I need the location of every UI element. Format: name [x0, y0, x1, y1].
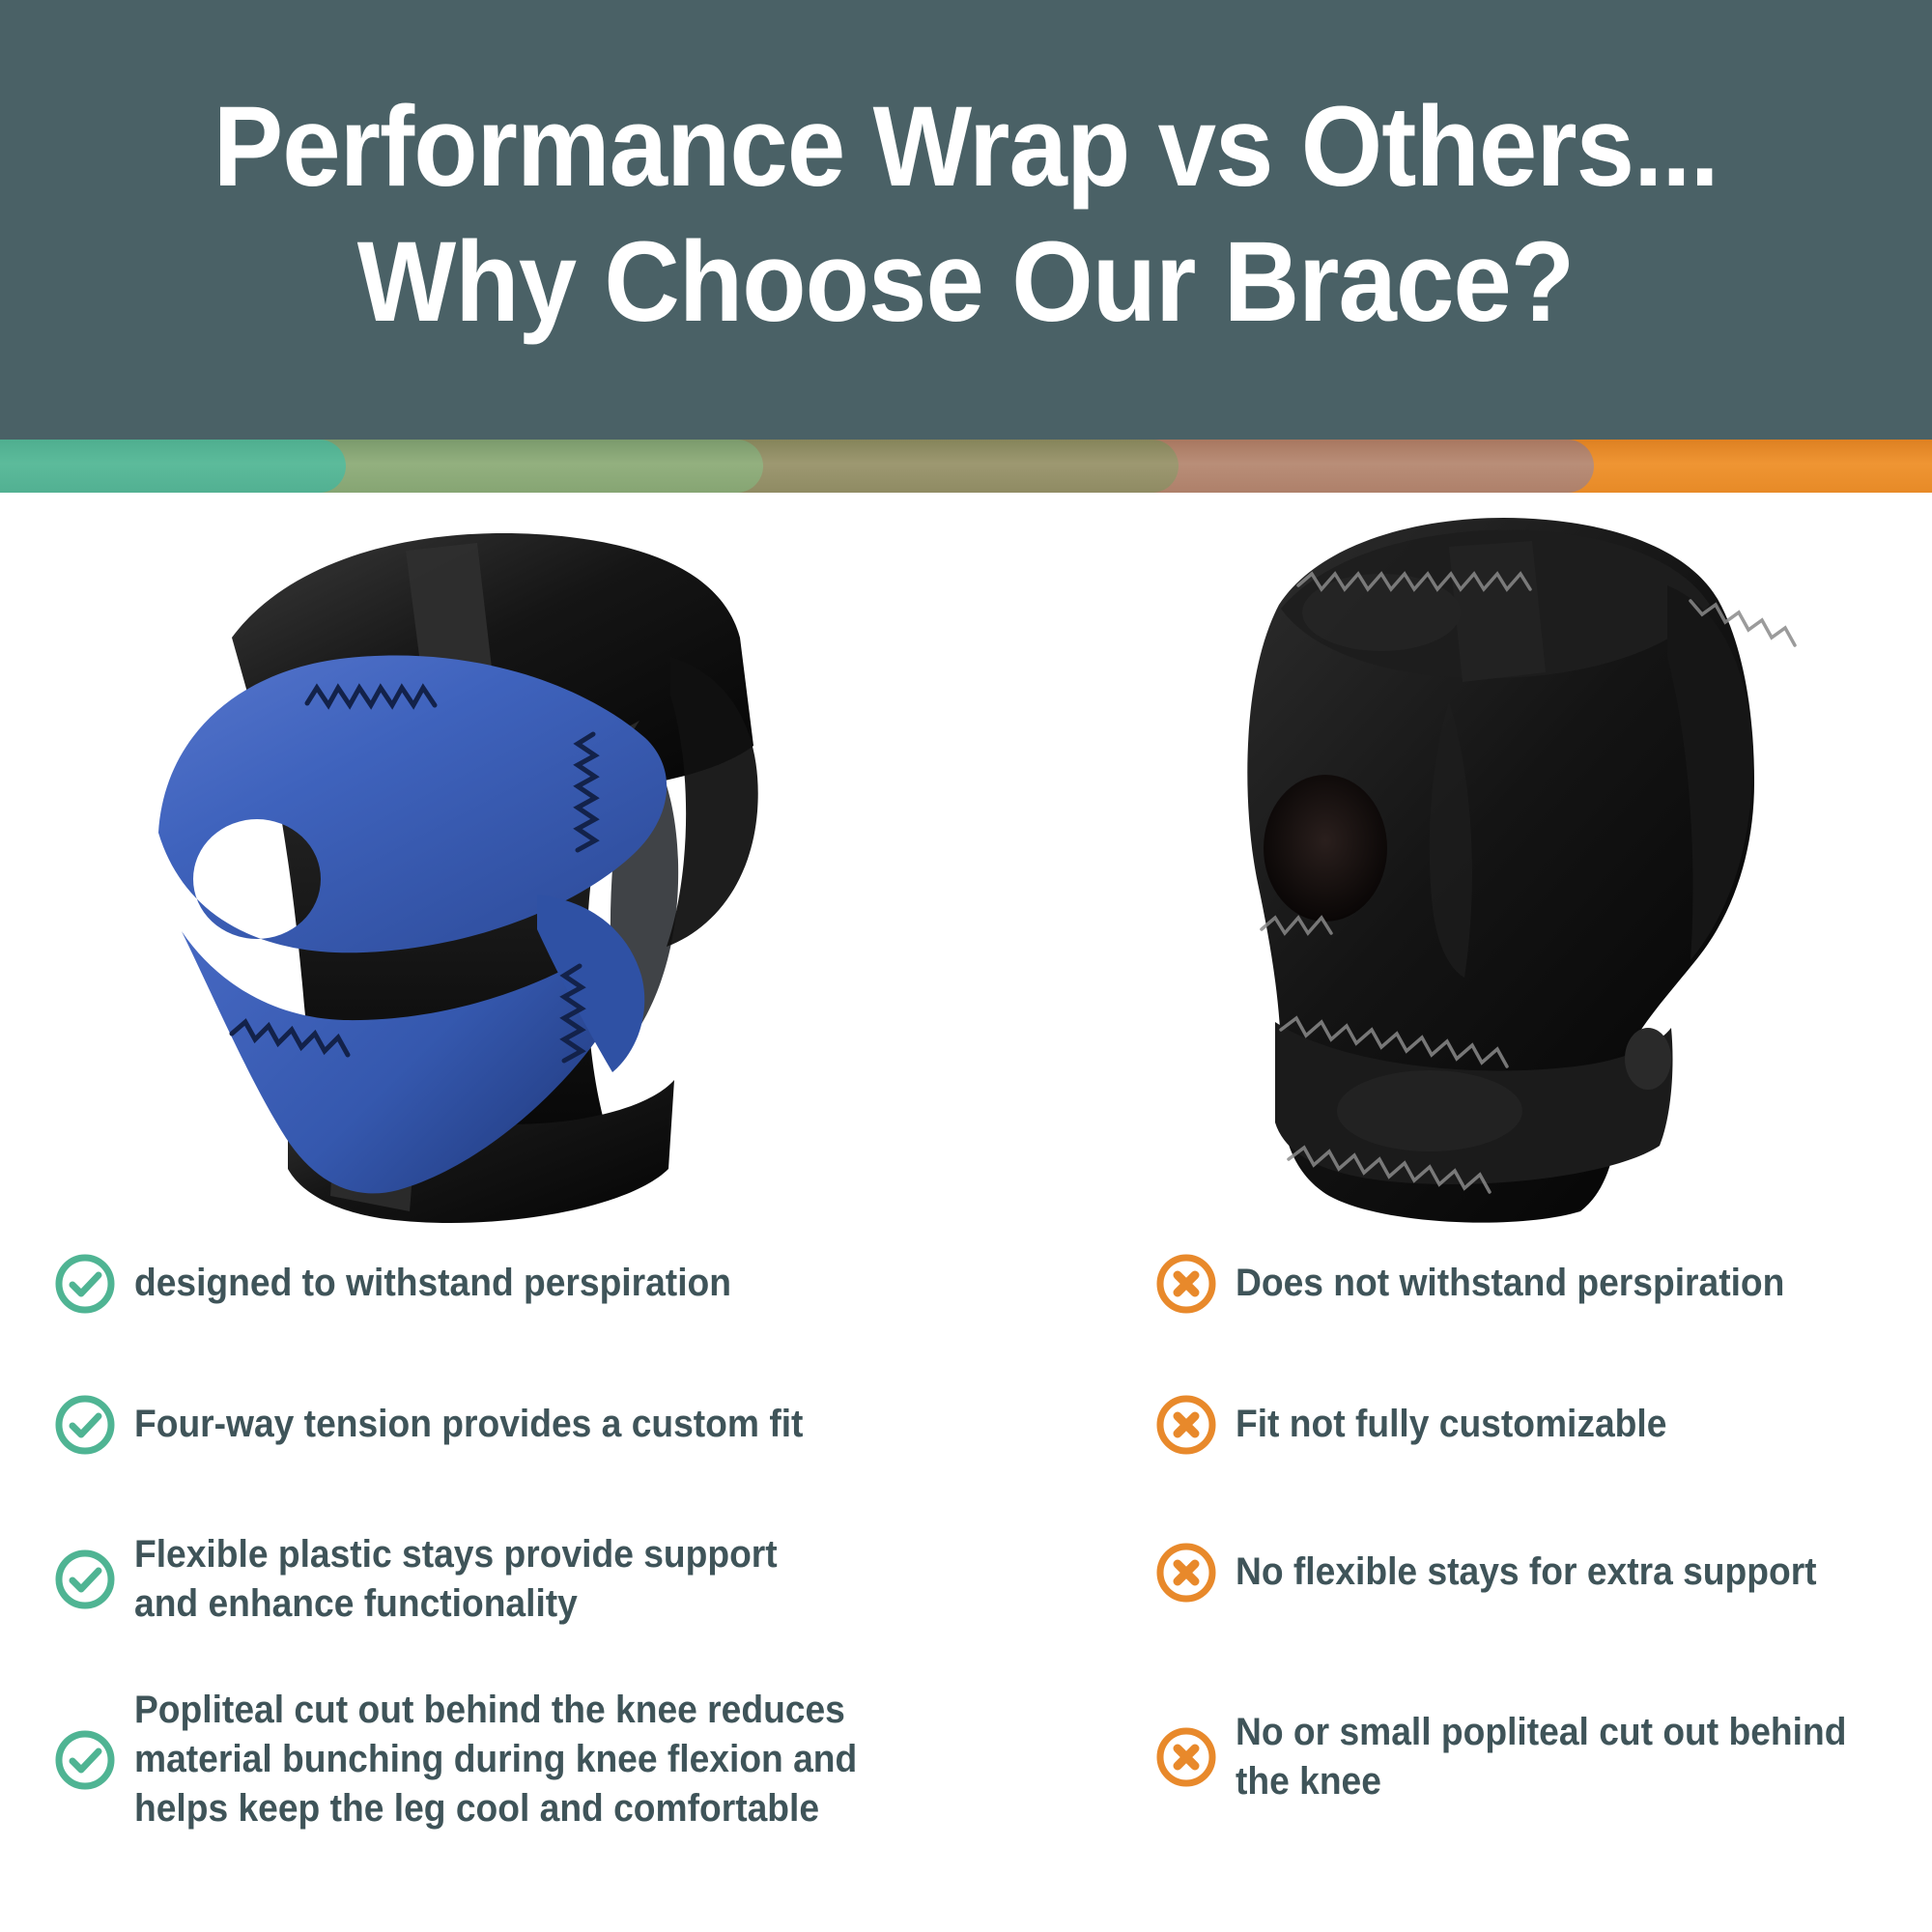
list-item-label: No flexible stays for extra support [1236, 1548, 1817, 1597]
check-circle-icon [53, 1252, 117, 1316]
list-item: Does not withstand perspiration [1154, 1252, 1826, 1316]
page-header: Performance Wrap vs Others... Why Choose… [0, 0, 1932, 440]
page-title-line-1: Performance Wrap vs Others... [213, 80, 1719, 214]
our-brace-illustration [87, 493, 860, 1236]
check-circle-icon [53, 1728, 117, 1792]
cross-circle-icon [1154, 1541, 1218, 1605]
gradient-segment-teal [0, 440, 346, 493]
gradient-divider-bar [0, 440, 1932, 493]
product-image-competitor-brace [1092, 493, 1864, 1236]
list-item: Four-way tension provides a custom fit [53, 1393, 854, 1457]
check-circle-icon [53, 1548, 117, 1611]
list-item-label: Flexible plastic stays provide support a… [134, 1530, 778, 1629]
column-our-brace: designed to withstand perspiration Four-… [0, 1246, 1043, 1932]
list-item: No or small popliteal cut out behind the… [1154, 1708, 1892, 1806]
list-item: Flexible plastic stays provide support a… [53, 1530, 826, 1629]
small-popliteal-hole [1264, 775, 1387, 922]
list-item-label: No or small popliteal cut out behind the… [1236, 1708, 1846, 1806]
lower-velcro-pad [1337, 1070, 1522, 1151]
list-item: Fit not fully customizable [1154, 1393, 1699, 1457]
list-item-label: Popliteal cut out behind the knee reduce… [134, 1686, 857, 1834]
page-title-line-2: Why Choose Our Brace? [357, 215, 1574, 350]
cross-circle-icon [1154, 1252, 1218, 1316]
list-item: Popliteal cut out behind the knee reduce… [53, 1686, 912, 1834]
cross-circle-icon [1154, 1393, 1218, 1457]
list-item-label: Does not withstand perspiration [1236, 1259, 1784, 1308]
product-image-our-brace [87, 493, 860, 1236]
list-item-label: Fit not fully customizable [1236, 1400, 1666, 1449]
cross-circle-icon [1154, 1725, 1218, 1789]
upper-center-tab [1449, 541, 1546, 682]
column-competitor-brace: Does not withstand perspiration Fit not … [1043, 1246, 1932, 1932]
product-comparison-images [0, 493, 1932, 1236]
strap-buckle-nub [1625, 1028, 1671, 1090]
list-item-label: Four-way tension provides a custom fit [134, 1400, 803, 1449]
list-item-label: designed to withstand perspiration [134, 1259, 731, 1308]
comparison-columns: designed to withstand perspiration Four-… [0, 1246, 1932, 1932]
list-item: designed to withstand perspiration [53, 1252, 777, 1316]
list-item: No flexible stays for extra support [1154, 1541, 1861, 1605]
check-circle-icon [53, 1393, 117, 1457]
competitor-brace-illustration [1092, 493, 1864, 1236]
